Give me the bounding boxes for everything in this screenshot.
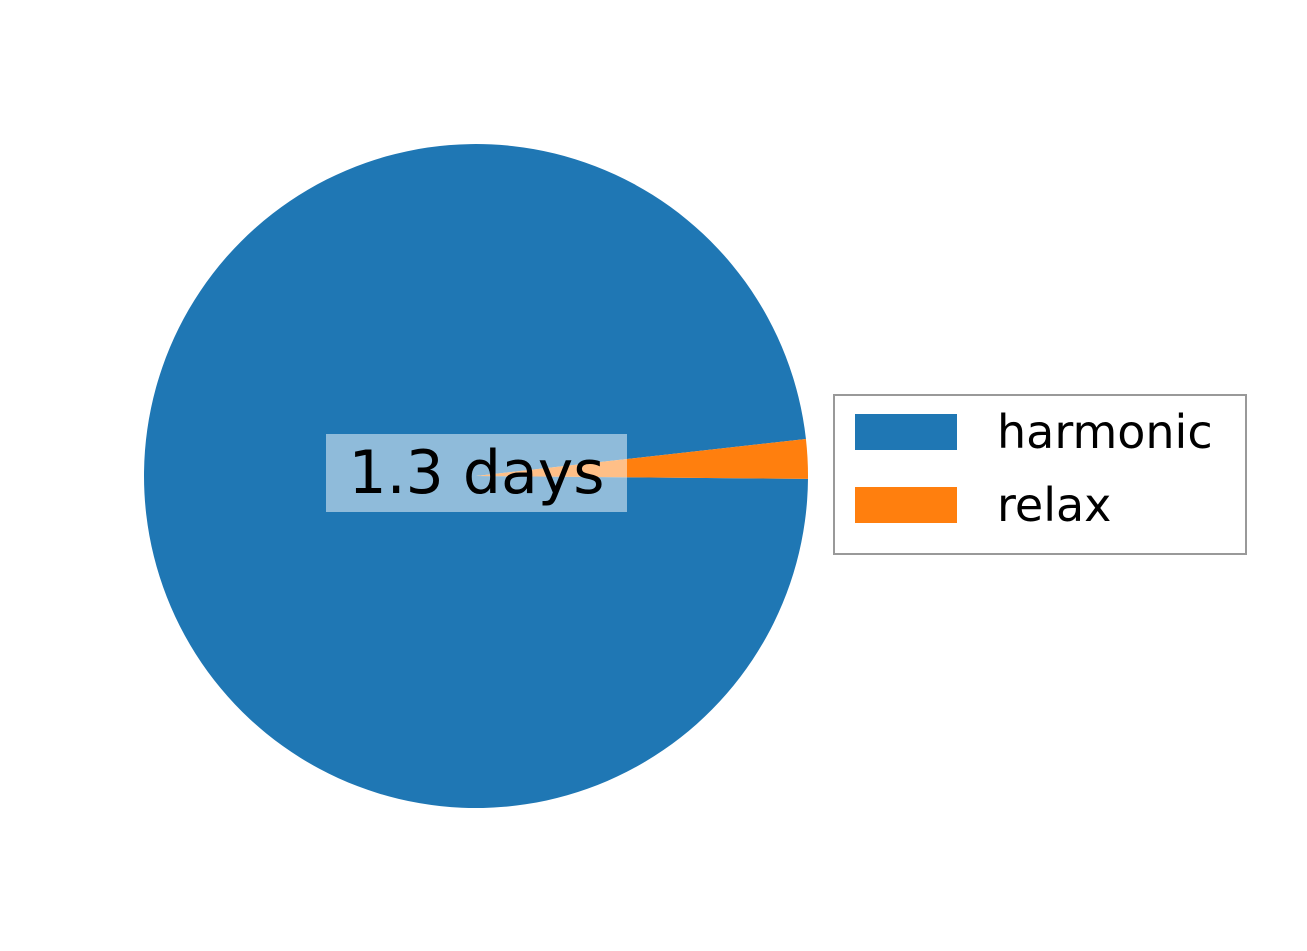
legend-item-harmonic[interactable]: harmonic (835, 409, 1245, 455)
legend-swatch-relax (855, 487, 957, 523)
legend-item-relax[interactable]: relax (835, 482, 1245, 528)
legend-label-harmonic: harmonic (997, 409, 1213, 455)
legend-label-relax: relax (997, 482, 1111, 528)
pie-chart-figure: 1.3 days harmonic relax (0, 0, 1307, 951)
chart-legend: harmonic relax (833, 394, 1247, 555)
legend-swatch-harmonic (855, 414, 957, 450)
pie-slice-label-harmonic: 1.3 days (326, 434, 627, 512)
